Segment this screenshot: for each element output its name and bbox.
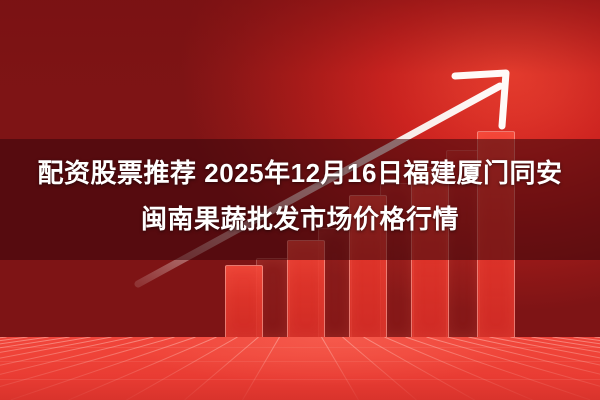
perspective-floor (0, 337, 600, 400)
floor-grid-horizontal-line (0, 361, 600, 362)
title-line-2: 闽南果蔬批发市场价格行情 (0, 196, 600, 242)
floor-grid-horizontal-line (0, 347, 600, 348)
page-title: 配资股票推荐 2025年12月16日福建厦门同安 闽南果蔬批发市场价格行情 (0, 150, 600, 242)
floor-grid-horizontal-line (0, 379, 600, 380)
banner-image: 配资股票推荐 2025年12月16日福建厦门同安 闽南果蔬批发市场价格行情 (0, 0, 600, 400)
bar-1 (225, 265, 263, 337)
title-line-1: 配资股票推荐 2025年12月16日福建厦门同安 (38, 158, 563, 188)
